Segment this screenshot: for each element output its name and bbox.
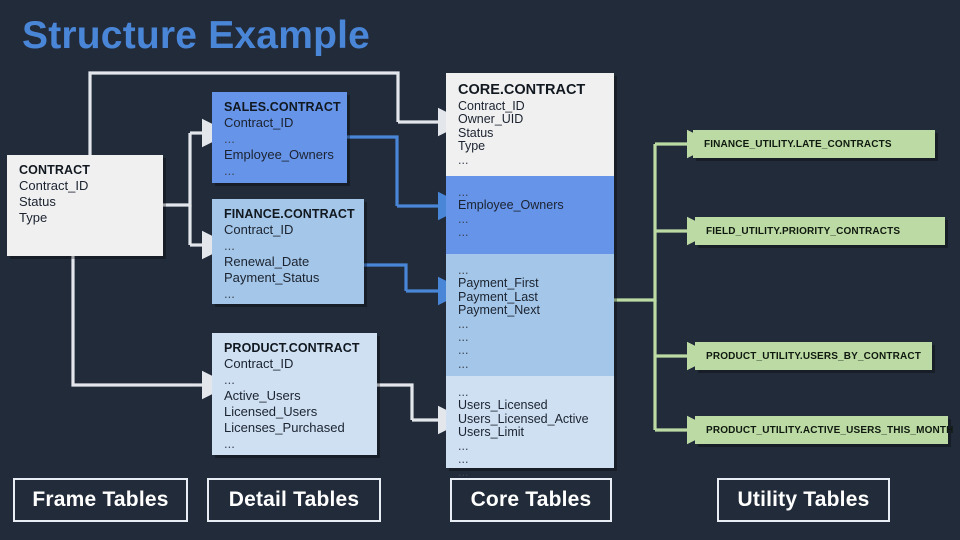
- table-name: FINANCE.CONTRACT: [224, 206, 364, 222]
- frame-table-contract[interactable]: CONTRACT Contract_ID Status Type: [7, 155, 163, 256]
- core-section-finance: ... Payment_First Payment_Last Payment_N…: [446, 254, 614, 376]
- table-field: Type: [19, 210, 163, 226]
- utility-table-product-active-users-this-month[interactable]: PRODUCT_UTILITY.ACTIVE_USERS_THIS_MONTH: [695, 416, 948, 444]
- table-field: Contract_ID: [19, 178, 163, 194]
- table-field-ellipsis: ...: [458, 453, 614, 466]
- core-section-sales: ... Employee_Owners ... ...: [446, 176, 614, 254]
- detail-table-finance-contract[interactable]: FINANCE.CONTRACT Contract_ID ... Renewal…: [212, 199, 364, 304]
- table-name: PRODUCT.CONTRACT: [224, 340, 377, 356]
- table-field: Type: [458, 140, 614, 153]
- core-section-identity: CORE.CONTRACT Contract_ID Owner_UID Stat…: [446, 73, 614, 176]
- table-field-ellipsis: ...: [458, 264, 614, 277]
- legend-label: Detail Tables: [229, 488, 360, 512]
- legend-frame-tables: Frame Tables: [13, 478, 188, 522]
- page-title: Structure Example: [22, 14, 370, 58]
- table-field: Owner_UID: [458, 113, 614, 126]
- diagram-canvas: Structure Example CONTRACT Contract_ID S…: [0, 0, 960, 540]
- table-field-ellipsis: ...: [458, 386, 614, 399]
- table-field: Licenses_Purchased: [224, 420, 377, 436]
- utility-table-finance-late-contracts[interactable]: FINANCE_UTILITY.LATE_CONTRACTS: [693, 130, 935, 158]
- table-name: CONTRACT: [19, 162, 163, 178]
- table-field: Users_Licensed_Active: [458, 413, 614, 426]
- table-field-ellipsis: ...: [224, 238, 364, 254]
- table-field-ellipsis: ...: [458, 440, 614, 453]
- table-field-ellipsis: ...: [458, 186, 614, 199]
- table-field: Employee_Owners: [458, 199, 614, 212]
- table-field: Employee_Owners: [224, 147, 347, 163]
- table-field: Renewal_Date: [224, 254, 364, 270]
- wire-contract-to-sales: [163, 133, 190, 205]
- table-name: PRODUCT_UTILITY.USERS_BY_CONTRACT: [706, 351, 921, 362]
- table-field: Payment_Next: [458, 304, 614, 317]
- legend-core-tables: Core Tables: [450, 478, 612, 522]
- table-field-ellipsis: ...: [458, 154, 614, 167]
- table-field-ellipsis: ...: [458, 331, 614, 344]
- table-name: FIELD_UTILITY.PRIORITY_CONTRACTS: [706, 226, 900, 237]
- table-field-ellipsis: ...: [458, 213, 614, 226]
- legend-detail-tables: Detail Tables: [207, 478, 381, 522]
- table-field-ellipsis: ...: [224, 372, 377, 388]
- legend-utility-tables: Utility Tables: [717, 478, 890, 522]
- table-name: CORE.CONTRACT: [458, 81, 614, 100]
- wire-core-to-utility-trunk-up: [614, 144, 655, 300]
- legend-label: Utility Tables: [738, 488, 870, 512]
- table-field: Payment_Last: [458, 291, 614, 304]
- detail-table-sales-contract[interactable]: SALES.CONTRACT Contract_ID ... Employee_…: [212, 92, 347, 183]
- table-field-ellipsis: ...: [458, 318, 614, 331]
- table-field-ellipsis: ...: [224, 131, 347, 147]
- wires-core-to-utility: [614, 144, 690, 430]
- table-field-ellipsis: ...: [458, 226, 614, 239]
- wire-product-to-core: [377, 385, 412, 420]
- wire-finance-to-core: [364, 265, 406, 291]
- table-field: Contract_ID: [224, 222, 364, 238]
- table-field: Users_Licensed: [458, 399, 614, 412]
- table-field: Status: [19, 194, 163, 210]
- wire-sales-to-core: [347, 137, 397, 206]
- table-name: SALES.CONTRACT: [224, 99, 347, 115]
- table-field: Active_Users: [224, 388, 377, 404]
- table-name: PRODUCT_UTILITY.ACTIVE_USERS_THIS_MONTH: [706, 425, 954, 436]
- table-field-ellipsis: ...: [458, 344, 614, 357]
- utility-table-product-users-by-contract[interactable]: PRODUCT_UTILITY.USERS_BY_CONTRACT: [695, 342, 932, 370]
- core-section-product: ... Users_Licensed Users_Licensed_Active…: [446, 376, 614, 468]
- legend-label: Core Tables: [471, 488, 592, 512]
- table-field: Licensed_Users: [224, 404, 377, 420]
- table-field: Contract_ID: [224, 115, 347, 131]
- table-field: Payment_Status: [224, 270, 364, 286]
- table-field: Contract_ID: [224, 356, 377, 372]
- wire-contract-to-product: [73, 256, 192, 385]
- table-field-ellipsis: ...: [458, 358, 614, 371]
- table-field-ellipsis: ...: [224, 163, 347, 179]
- detail-table-product-contract[interactable]: PRODUCT.CONTRACT Contract_ID ... Active_…: [212, 333, 377, 455]
- table-field: Users_Limit: [458, 426, 614, 439]
- table-field: Payment_First: [458, 277, 614, 290]
- table-field: Status: [458, 127, 614, 140]
- table-field-ellipsis: ...: [224, 436, 377, 452]
- legend-label: Frame Tables: [32, 488, 168, 512]
- utility-table-field-priority-contracts[interactable]: FIELD_UTILITY.PRIORITY_CONTRACTS: [695, 217, 945, 245]
- table-field-ellipsis: ...: [224, 286, 364, 302]
- table-name: FINANCE_UTILITY.LATE_CONTRACTS: [704, 139, 892, 150]
- core-table-core-contract[interactable]: CORE.CONTRACT Contract_ID Owner_UID Stat…: [446, 73, 614, 468]
- table-field: Contract_ID: [458, 100, 614, 113]
